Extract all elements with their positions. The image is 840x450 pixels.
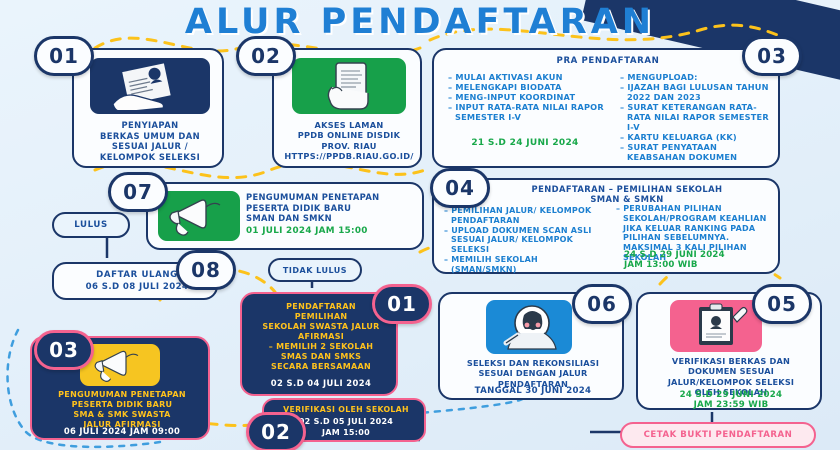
step-02-text: AKSES LAMAN PPDB ONLINE DISDIK PROV. RIA… bbox=[277, 120, 421, 161]
step-05-badge: 05 bbox=[752, 284, 812, 324]
documents-hand-icon bbox=[90, 58, 210, 114]
list-item: UPLOAD DOKUMEN SCAN ASLI SESUAI JALUR/ K… bbox=[444, 226, 602, 255]
step-07-date: 01 JULI 2024 JAM 15:00 bbox=[246, 226, 418, 237]
step-04-left-list: PEMILIHAN JALUR/ KELOMPOK PENDAFTARAN UP… bbox=[444, 206, 602, 274]
list-item: PEMILIHAN JALUR/ KELOMPOK PENDAFTARAN bbox=[444, 206, 602, 226]
list-item: MELENGKAPI BIODATA bbox=[448, 82, 606, 92]
step-04-heading-line2: SMAN & SMKN bbox=[474, 194, 780, 204]
step-03-badge: 03 bbox=[742, 36, 802, 76]
step-03-right-list: MENGUPLOAD: IJAZAH BAGI LULUSAN TAHUN 20… bbox=[620, 72, 772, 162]
step-06-date: TANGGAL 30 JUNI 2024 bbox=[442, 386, 624, 397]
list-item: SURAT PENYATAAN KEABSAHAN DOKUMEN bbox=[620, 142, 772, 162]
lulus-label: LULUS bbox=[52, 212, 130, 238]
step-07-badge: 07 bbox=[108, 172, 168, 212]
step-08-badge: 08 bbox=[176, 250, 236, 290]
megaphone-glyph bbox=[88, 347, 152, 383]
step-06-text: SELEKSI DAN REKONSILIASI SESUAI DENGAN J… bbox=[442, 358, 624, 389]
afirmasi-02-badge: 02 bbox=[246, 412, 306, 450]
afirmasi-01-badge: 01 bbox=[372, 284, 432, 324]
step-02-badge: 02 bbox=[236, 36, 296, 76]
list-item: MEMILIH SEKOLAH (SMAN/SMKN) bbox=[444, 255, 602, 275]
list-item: MENGUPLOAD: bbox=[620, 72, 772, 82]
step-01-card[interactable]: PENYIAPAN BERKAS UMUM DAN SESUAI JALUR /… bbox=[72, 48, 224, 168]
afirmasi-01-date: 02 S.D 04 JULI 2024 bbox=[244, 378, 398, 389]
afirmasi-03-date: 06 JULI 2024 JAM 09:00 bbox=[34, 426, 210, 437]
step-03-heading: PRA PENDAFTARAN bbox=[434, 56, 782, 66]
step-06-badge: 06 bbox=[572, 284, 632, 324]
megaphone-icon bbox=[158, 191, 240, 241]
list-item: INPUT RATA-RATA NILAI RAPOR SEMESTER I-V bbox=[448, 102, 606, 122]
step-07-card[interactable]: PENGUMUMAN PENETAPAN PESERTA DIDIK BARU … bbox=[146, 182, 424, 250]
afirmasi-03-badge: 03 bbox=[34, 330, 94, 370]
afirmasi-03-text: PENGUMUMAN PENETAPAN PESERTA DIDIK BARU … bbox=[34, 390, 210, 430]
magnifier-person-icon bbox=[486, 300, 572, 354]
list-item: MENG-INPUT KOORDINAT bbox=[448, 92, 606, 102]
step-05-date-line2: JAM 23:59 WIB bbox=[640, 400, 822, 411]
clipboard-verify-glyph bbox=[681, 303, 751, 349]
list-item: IJAZAH BAGI LULUSAN TAHUN 2022 DAN 2023 bbox=[620, 82, 772, 102]
step-01-badge: 01 bbox=[34, 36, 94, 76]
documents-hand-glyph bbox=[107, 62, 193, 110]
clipboard-verify-icon bbox=[670, 300, 762, 352]
step-03-card[interactable]: PRA PENDAFTARAN MULAI AKTIVASI AKUN MELE… bbox=[432, 48, 780, 168]
list-item: MULAI AKTIVASI AKUN bbox=[448, 72, 606, 82]
tidak-lulus-label: TIDAK LULUS bbox=[268, 258, 362, 282]
step-03-left-list: MULAI AKTIVASI AKUN MELENGKAPI BIODATA M… bbox=[448, 72, 606, 122]
step-04-heading-line1: PENDAFTARAN – PEMILIHAN SEKOLAH bbox=[474, 184, 780, 194]
infographic-canvas: ALUR PENDAFTARAN 01 PENYIAPAN BERKAS UMU… bbox=[0, 0, 840, 450]
tablet-hand-glyph bbox=[314, 61, 384, 111]
step-02-card[interactable]: AKSES LAMAN PPDB ONLINE DISDIK PROV. RIA… bbox=[272, 48, 422, 168]
step-03-left-date: 21 S.D 24 JUNI 2024 bbox=[444, 138, 606, 149]
step-04-badge: 04 bbox=[430, 168, 490, 208]
cetak-bukti-pendaftaran-label[interactable]: CETAK BUKTI PENDAFTARAN bbox=[620, 422, 816, 448]
page-title: ALUR PENDAFTARAN bbox=[0, 2, 840, 42]
step-07-text: PENGUMUMAN PENETAPAN PESERTA DIDIK BARU … bbox=[246, 192, 418, 224]
step-04-date-line2: JAM 13:00 WIB bbox=[624, 260, 776, 271]
list-item: SURAT KETERANGAN RATA-RATA NILAI RAPOR S… bbox=[620, 102, 772, 132]
magnifier-person-glyph bbox=[496, 303, 562, 351]
step-01-text: PENYIAPAN BERKAS UMUM DAN SESUAI JALUR /… bbox=[78, 120, 222, 162]
megaphone-glyph bbox=[166, 195, 232, 237]
tablet-hand-icon bbox=[292, 58, 406, 114]
list-item: KARTU KELUARGA (KK) bbox=[620, 132, 772, 142]
